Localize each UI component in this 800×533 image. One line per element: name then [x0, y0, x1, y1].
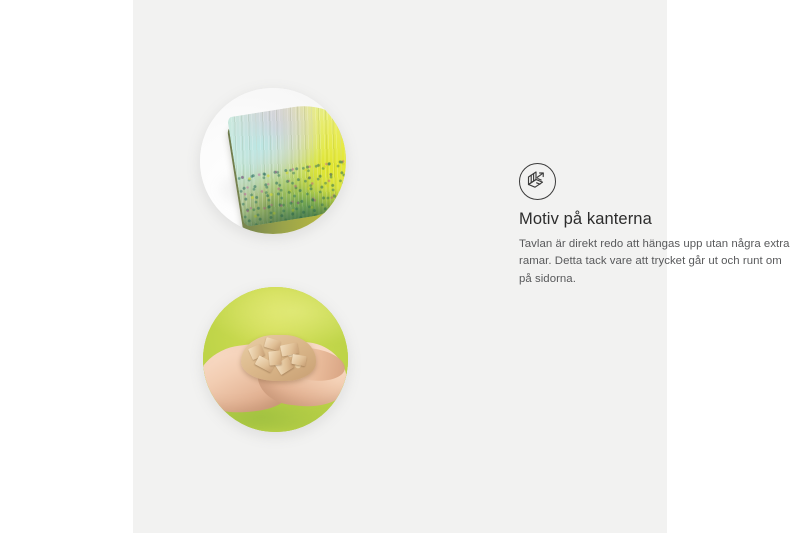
wood-chip: [291, 354, 306, 366]
grass-background: [203, 287, 348, 432]
canvas-photo-background: [200, 88, 346, 234]
wood-chip: [264, 338, 281, 352]
product-feature-banner: Motiv på kanterna Tavlan är direkt redo …: [0, 0, 800, 533]
canvas-print-edge-photo: [200, 88, 346, 234]
content-panel: Motiv på kanterna Tavlan är direkt redo …: [133, 0, 667, 533]
wood-chip: [269, 350, 282, 365]
feature-block-eco: Ekologisk produkt Vi använder endast mat…: [133, 254, 667, 449]
canvas-printed-face: [227, 98, 346, 227]
feature-title: Motiv på kanterna: [519, 210, 791, 228]
feature-block-edges: Motiv på kanterna Tavlan är direkt redo …: [133, 55, 667, 250]
canvas-wrapped-edge-icon: [519, 163, 556, 200]
wood-chips-in-hands-photo: [203, 287, 348, 432]
wood-chip-pile: [241, 335, 316, 381]
